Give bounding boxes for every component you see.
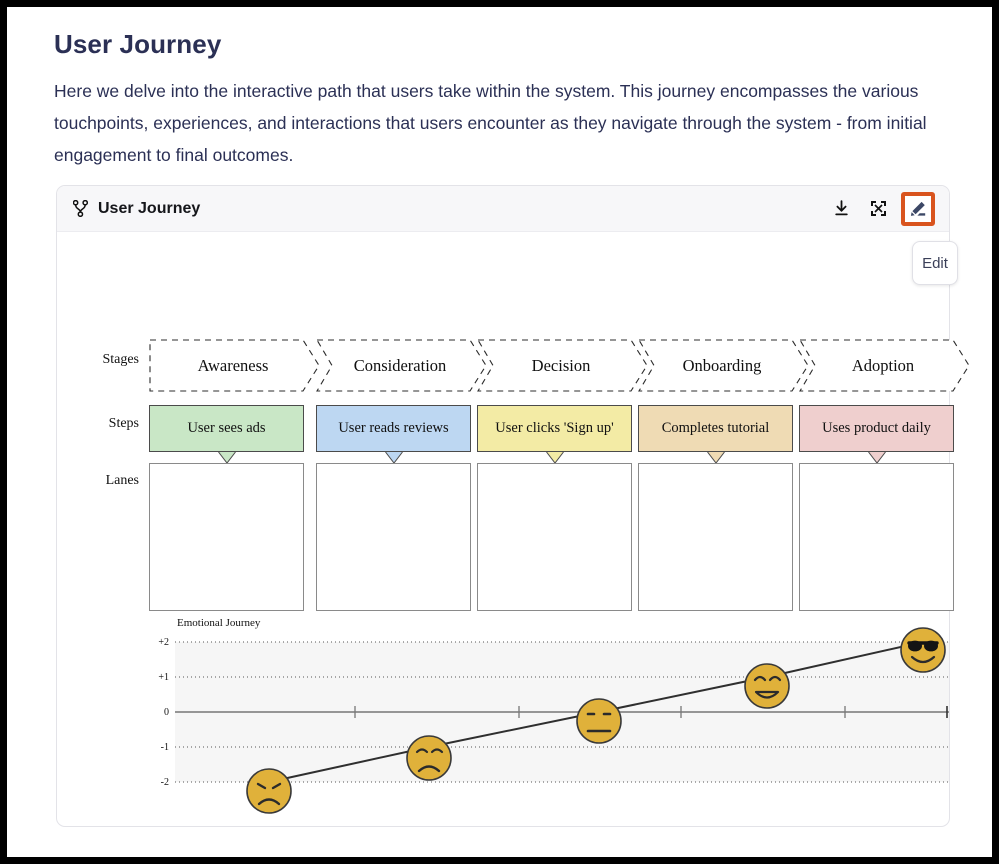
step-label: Uses product daily: [822, 420, 931, 437]
card-title: User Journey: [98, 200, 200, 218]
emotion-face-angry: [247, 769, 291, 813]
stage-label: Adoption: [799, 339, 967, 392]
step-label: Completes tutorial: [662, 420, 770, 437]
row-label-steps: Steps: [69, 416, 139, 432]
page-frame: User Journey Here we delve into the inte…: [7, 7, 992, 857]
step-label: User clicks 'Sign up': [495, 420, 613, 437]
step-box[interactable]: User clicks 'Sign up': [477, 405, 632, 452]
lane-box[interactable]: [149, 463, 304, 611]
download-button[interactable]: [827, 195, 855, 223]
step-box[interactable]: User sees ads: [149, 405, 304, 452]
user-journey-card: User Journey: [56, 185, 950, 827]
card-header: User Journey: [57, 186, 949, 232]
emotional-journey-chart: Emotional Journey +2 +1 0 -1 -2: [57, 622, 949, 822]
step-label: User sees ads: [187, 420, 265, 437]
stage-chevron[interactable]: Decision: [477, 339, 645, 392]
lane-box[interactable]: [799, 463, 954, 611]
step-box[interactable]: Completes tutorial: [638, 405, 793, 452]
emotion-face-cool: [901, 628, 945, 672]
page-intro-paragraph: Here we delve into the interactive path …: [54, 75, 956, 171]
emotion-face-neutral: [577, 699, 621, 743]
edit-tooltip: Edit: [912, 241, 958, 285]
stage-chevron[interactable]: Awareness: [149, 339, 317, 392]
lane-box[interactable]: [638, 463, 793, 611]
step-label: User reads reviews: [338, 420, 448, 437]
stage-label: Awareness: [149, 339, 317, 392]
stage-chevron[interactable]: Onboarding: [638, 339, 806, 392]
pencil-icon: [909, 200, 927, 218]
journey-diagram: Stages Steps Lanes Awareness Considerati…: [57, 231, 949, 826]
fullscreen-button[interactable]: [864, 195, 892, 223]
stage-label: Decision: [477, 339, 645, 392]
emotion-face-happy: [745, 664, 789, 708]
page-title: User Journey: [54, 29, 221, 60]
stage-label: Onboarding: [638, 339, 806, 392]
edit-button[interactable]: [901, 192, 935, 226]
card-header-left: User Journey: [57, 200, 200, 218]
lane-box[interactable]: [316, 463, 471, 611]
emotion-face-sad: [407, 736, 451, 780]
row-label-stages: Stages: [69, 352, 139, 368]
git-fork-icon: [73, 200, 88, 217]
stage-label: Consideration: [316, 339, 484, 392]
fullscreen-expand-icon: [869, 199, 888, 218]
stage-chevron[interactable]: Consideration: [316, 339, 484, 392]
lane-box[interactable]: [477, 463, 632, 611]
card-toolbar: [827, 192, 949, 226]
step-box[interactable]: Uses product daily: [799, 405, 954, 452]
chart-plot-area: [57, 622, 949, 822]
row-label-lanes: Lanes: [69, 473, 139, 489]
step-box[interactable]: User reads reviews: [316, 405, 471, 452]
stage-chevron[interactable]: Adoption: [799, 339, 967, 392]
download-icon: [832, 199, 851, 218]
